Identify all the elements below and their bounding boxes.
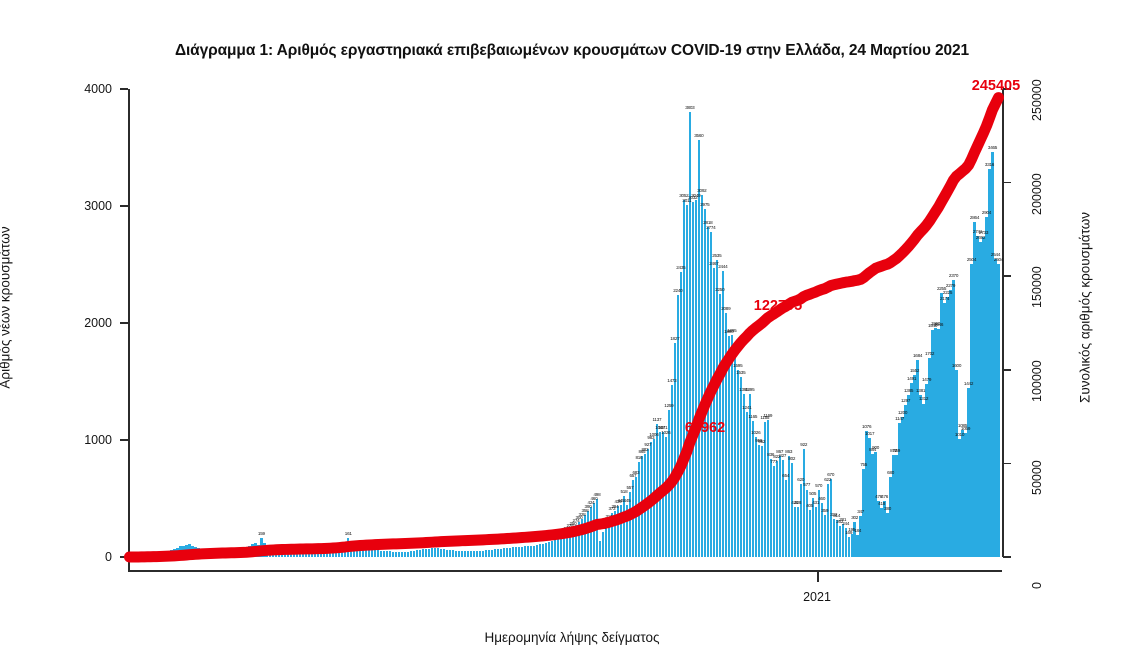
bar-value-label: 1442 xyxy=(964,381,973,386)
bar-value-label: 882 xyxy=(641,447,648,452)
bar-value-label: 476 xyxy=(881,494,888,499)
bar-value-label: 900 xyxy=(872,445,879,450)
bar-value-label: 161 xyxy=(345,531,352,536)
bar-value-label: 2174 xyxy=(940,296,949,301)
y-tick-label-left: 0 xyxy=(50,550,112,564)
bar-value-label: 1491 xyxy=(907,376,916,381)
x-tick-label-2021: 2021 xyxy=(803,590,831,604)
y-tick-label-left: 4000 xyxy=(50,82,112,96)
chart-root: Διάγραμμα 1: Αριθμός εργαστηριακά επιβεβ… xyxy=(0,0,1144,666)
bar-value-label: 3465 xyxy=(988,145,997,150)
bar-value-label: 1147 xyxy=(895,416,904,421)
bar-value-label: 1600 xyxy=(952,363,961,368)
bar-value-label: 460 xyxy=(590,496,597,501)
bar-value-label: 1026 xyxy=(661,430,670,435)
bar-value-label: 1165 xyxy=(748,414,757,419)
bar-value-label: 1595 xyxy=(733,363,742,368)
bar-value-label: 380 xyxy=(884,506,891,511)
x-axis-line xyxy=(128,570,1002,572)
bar-value-label: 3316 xyxy=(985,162,994,167)
bar-value-label: 1827 xyxy=(670,336,679,341)
y-tick-mark-right xyxy=(1003,463,1011,465)
bar-value-label: 2435 xyxy=(676,265,685,270)
bar-value-label: 347 xyxy=(857,509,864,514)
bar-value-label: 1946 xyxy=(934,322,943,327)
bar-value-label: 570 xyxy=(815,483,822,488)
bar-value-label: 2467 xyxy=(709,261,718,266)
y-tick-label-right: 50000 xyxy=(1030,461,1044,496)
bar-value-label: 683 xyxy=(632,470,639,475)
bar-value-label: 1395 xyxy=(745,387,754,392)
bar-value-label: 670 xyxy=(827,472,834,477)
y-tick-label-left: 1000 xyxy=(50,433,112,447)
bar-value-label: 1259 xyxy=(664,403,673,408)
y-tick-label-right: 0 xyxy=(1030,582,1044,589)
bar-value-label: 2864 xyxy=(970,215,979,220)
bar-value-label: 1473 xyxy=(667,378,676,383)
y-tick-label-right: 100000 xyxy=(1030,360,1044,402)
y-tick-label-left: 2000 xyxy=(50,316,112,330)
bar-value-label: 1552 xyxy=(910,368,919,373)
bar-value-label: 1312 xyxy=(919,396,928,401)
bar-value-label: 394 xyxy=(611,504,618,509)
page-title: Διάγραμμα 1: Αριθμός εργαστηριακά επιβεβ… xyxy=(0,42,1144,60)
bar-value-label: 1241 xyxy=(742,405,751,410)
y-tick-label-left: 3000 xyxy=(50,199,112,213)
bar-value-label: 3049 xyxy=(691,193,700,198)
bar-value-label: 922 xyxy=(800,442,807,447)
plot-area: 1591611601741902082282502743003283583904… xyxy=(128,89,1000,557)
annotation-245405: 245405 xyxy=(972,78,1020,94)
x-axis-title: Ημερομηνία λήψης δείγματος xyxy=(0,630,1144,645)
bar-value-label: 1684 xyxy=(913,353,922,358)
bar-value-label: 1006 xyxy=(649,432,658,437)
y-tick-label-right: 200000 xyxy=(1030,173,1044,215)
bar-value-label: 505 xyxy=(809,491,816,496)
bar-value-label: 622 xyxy=(824,477,831,482)
bar-value-label: 1702 xyxy=(925,351,934,356)
bar-value-label: 2733 xyxy=(979,230,988,235)
bar-value-label: 159 xyxy=(258,531,265,536)
bar-value-label: 2225 xyxy=(943,290,952,295)
y-axis-right-title: Συνολικός αριθμός κρουσμάτων xyxy=(1078,128,1093,488)
bar-labels-layer: 1591611601741902082282502743003283583904… xyxy=(128,89,1000,557)
bar-value-label: 869 xyxy=(893,448,900,453)
bar-value-label: 1200 xyxy=(898,410,907,415)
y-tick-mark-right xyxy=(1003,556,1011,558)
y-tick-mark-left xyxy=(120,205,128,207)
annotation-122795: 122795 xyxy=(754,298,802,314)
bar-value-label: 1026 xyxy=(751,430,760,435)
bar-value-label: 863 xyxy=(785,449,792,454)
bar-value-label: 952 xyxy=(758,439,765,444)
y-tick-label-right: 250000 xyxy=(1030,79,1044,121)
bar-value-label: 1017 xyxy=(865,431,874,436)
x-tick-mark-2021 xyxy=(817,571,819,582)
bar-value-label: 654 xyxy=(782,473,789,478)
bar-value-label: 2692 xyxy=(976,235,985,240)
bar-value-label: 802 xyxy=(788,456,795,461)
y-tick-label-right: 150000 xyxy=(1030,266,1044,308)
bar-value-label: 2904 xyxy=(982,210,991,215)
bar-value-label: 302 xyxy=(851,515,858,520)
bar-value-label: 210 xyxy=(599,525,606,530)
bar-value-label: 2504 xyxy=(994,257,1003,262)
bar-value-label: 1169 xyxy=(763,413,772,418)
bar-value-label: 3560 xyxy=(694,133,703,138)
bar-value-label: 3803 xyxy=(685,105,694,110)
bar-value-label: 1071 xyxy=(658,425,667,430)
bar-value-label: 1297 xyxy=(901,398,910,403)
y-axis-left-title: Αριθμός νέων κρουσμάτων xyxy=(0,128,13,488)
bar-value-label: 184 xyxy=(854,528,861,533)
bar-value-label: 445 xyxy=(623,498,630,503)
bar-value-label: 1076 xyxy=(862,424,871,429)
y-tick-mark-right xyxy=(1003,182,1011,184)
bar-value-label: 577 xyxy=(803,482,810,487)
bar-value-label: 816 xyxy=(635,455,642,460)
y-tick-mark-left xyxy=(120,322,128,324)
annotation-60962: 60962 xyxy=(685,420,725,436)
bar-value-label: 557 xyxy=(626,485,633,490)
bar-value-label: 1535 xyxy=(736,370,745,375)
bar-value-label: 755 xyxy=(860,462,867,467)
bar-value-label: 2504 xyxy=(967,257,976,262)
bar-value-label: 3092 xyxy=(697,188,706,193)
bar-value-label: 927 xyxy=(644,442,651,447)
bar-value-label: 1479 xyxy=(922,377,931,382)
bar-value-label: 2535 xyxy=(712,253,721,258)
bar-value-label: 244 xyxy=(842,521,849,526)
bar-value-label: 1137 xyxy=(652,417,661,422)
bar-value-label: 310 xyxy=(605,514,612,519)
bar-value-label: 2975 xyxy=(700,202,709,207)
bar-value-label: 2089 xyxy=(721,306,730,311)
bar-value-label: 1010 xyxy=(955,432,964,437)
bar-value-label: 1059 xyxy=(961,426,970,431)
bar-value-label: 460 xyxy=(818,496,825,501)
bar-value-label: 518 xyxy=(620,489,627,494)
bar-value-label: 428 xyxy=(794,500,801,505)
bar-value-label: 260 xyxy=(602,520,609,525)
bar-value-label: 2444 xyxy=(718,264,727,269)
bar-value-label: 1385 xyxy=(904,388,913,393)
bar-value-label: 1715 xyxy=(730,349,739,354)
bar-value-label: 2250 xyxy=(715,287,724,292)
y-tick-mark-left xyxy=(120,88,128,90)
y-axis-right-line xyxy=(1002,89,1004,557)
bar-value-label: 680 xyxy=(887,470,894,475)
bar-value-label: 2279 xyxy=(946,283,955,288)
bar-value-label: 2370 xyxy=(949,273,958,278)
bar-value-label: 359 xyxy=(821,508,828,513)
y-tick-mark-right xyxy=(1003,369,1011,371)
bar-value-label: 498 xyxy=(593,492,600,497)
bar-value-label: 1381 xyxy=(916,388,925,393)
bar-value-label: 1895 xyxy=(727,328,736,333)
bar-value-label: 2240 xyxy=(673,288,682,293)
bar-value-label: 777 xyxy=(770,459,777,464)
bar-value-label: 2774 xyxy=(706,225,715,230)
y-tick-mark-left xyxy=(120,439,128,441)
y-tick-mark-right xyxy=(1003,275,1011,277)
y-tick-mark-left xyxy=(120,556,128,558)
